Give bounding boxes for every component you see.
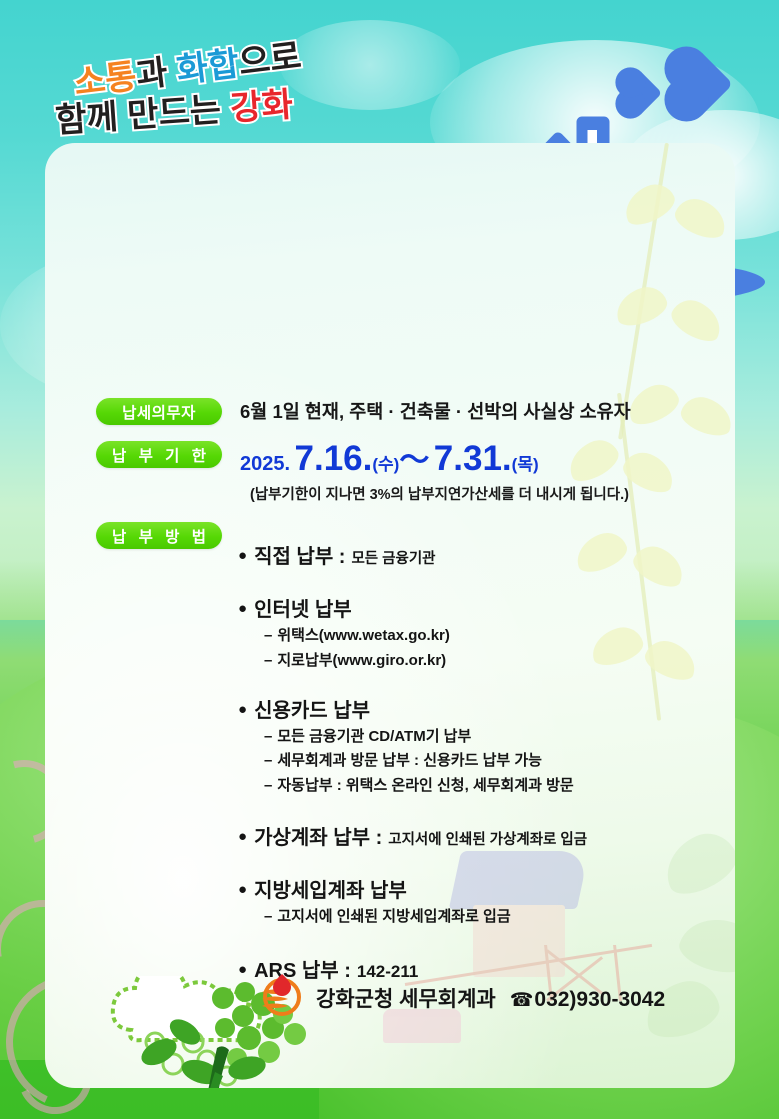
method-sub-text: 지로납부(www.giro.or.kr) [277, 652, 446, 669]
bullet-icon: ● [238, 961, 247, 978]
deadline-start-date: 7.16. [295, 439, 373, 478]
method-title-row: ●지방세입계좌 납부 [238, 874, 718, 903]
method-title: 인터넷 납부 [254, 599, 352, 621]
telephone-icon: ☎ [510, 990, 534, 1011]
taxpayer-row: 납세의무자 6월 1일 현재, 주택 · 건축물 · 선박의 사실상 소유자 [96, 398, 716, 425]
deadline-dates: 2025. 7.16.(수)〜 7.31.(목) [240, 441, 716, 476]
taxpayer-description: 6월 1일 현재, 주택 · 건축물 · 선박의 사실상 소유자 [240, 398, 716, 424]
leaf-decoration [618, 178, 679, 230]
ganghwa-emblem-icon [258, 972, 304, 1023]
method-sub-text: 모든 금융기관 CD/ATM기 납부 [277, 728, 471, 745]
method-title-row: ●가상계좌 납부 :고지서에 인쇄된 가상계좌로 입금 [238, 821, 718, 850]
leaf-decoration [611, 282, 671, 330]
bullet-icon: ● [238, 600, 247, 617]
dash-icon: – [264, 652, 272, 669]
payment-method-item: ●가상계좌 납부 :고지서에 인쇄된 가상계좌로 입금 [238, 821, 718, 850]
dash-icon: – [264, 777, 272, 794]
info-section: 납세의무자 6월 1일 현재, 주택 · 건축물 · 선박의 사실상 소유자 납… [96, 398, 716, 549]
payment-method-item: ●신용카드 납부 –모든 금융기관 CD/ATM기 납부 –세무회계과 방문 납… [238, 694, 718, 797]
footer-contact: 강화군청 세무회계과☎032)930-3042 [258, 972, 665, 1023]
deadline-year: 2025. [240, 453, 290, 475]
deadline-end-date: 7.31. [434, 439, 512, 478]
dash-icon: – [264, 627, 272, 644]
method-title: 신용카드 납부 [254, 700, 370, 722]
methods-badge: 납 부 방 법 [96, 522, 222, 549]
payment-method-item: ●지방세입계좌 납부 –고지서에 인쇄된 지방세입계좌로 입금 [238, 874, 718, 928]
bullet-icon: ● [238, 828, 247, 845]
deadline-end-day: (목) [512, 455, 539, 474]
deadline-badge: 납 부 기 한 [96, 441, 222, 468]
payment-method-item: ●직접 납부 :모든 금융기관 [238, 540, 718, 569]
logo-text-euro: 으로 [237, 37, 304, 82]
deadline-range-tilde: 〜 [399, 444, 429, 477]
method-sub-item: –자동납부 : 위택스 온라인 신청, 세무회계과 방문 [264, 775, 718, 797]
method-title-row: ●신용카드 납부 [238, 694, 718, 723]
bullet-icon: ● [238, 881, 247, 898]
footer-text-row: 강화군청 세무회계과☎032)930-3042 [316, 983, 665, 1013]
method-title-row: ●인터넷 납부 [238, 593, 718, 622]
method-sub-text: 세무회계과 방문 납부 : 신용카드 납부 가능 [277, 752, 542, 769]
method-sub-text: 자동납부 : 위택스 온라인 신청, 세무회계과 방문 [277, 777, 573, 794]
dash-icon: – [264, 908, 272, 925]
method-sub-text: 고지서에 인쇄된 지방세입계좌로 입금 [277, 908, 510, 925]
method-inline-note: 고지서에 인쇄된 가상계좌로 입금 [388, 832, 587, 848]
footer-phone: 032)930-3042 [534, 988, 665, 1011]
dash-icon: – [264, 728, 272, 745]
method-sub-item: –고지서에 인쇄된 지방세입계좌로 입금 [264, 906, 718, 928]
deadline-start-day: (수) [372, 455, 399, 474]
dash-icon: – [264, 752, 272, 769]
method-title: 지방세입계좌 납부 [254, 880, 407, 902]
payment-methods-list: ●직접 납부 :모든 금융기관 ●인터넷 납부 –위택스(www.wetax.g… [238, 540, 718, 997]
deadline-row: 납 부 기 한 2025. 7.16.(수)〜 7.31.(목) (납부기한이 … [96, 441, 716, 504]
method-sub-item: –위택스(www.wetax.go.kr) [264, 625, 718, 647]
method-sub-item: –지로납부(www.giro.or.kr) [264, 650, 718, 672]
deadline-note: (납부기한이 지나면 3%의 납부지연가산세를 더 내시게 됩니다.) [250, 483, 716, 504]
method-sub-item: –모든 금융기관 CD/ATM기 납부 [264, 726, 718, 748]
method-sub-text: 위택스(www.wetax.go.kr) [277, 627, 450, 644]
bullet-icon: ● [238, 701, 247, 718]
logo-text-ganghwa: 강화 [229, 86, 294, 128]
method-title: 가상계좌 납부 : [254, 827, 382, 849]
leaf-decoration [671, 193, 731, 243]
poster-root: 소통과 화합으로 함께 만드는 강화 [0, 0, 779, 1119]
bullet-icon: ● [238, 547, 247, 564]
method-title: 직접 납부 : [254, 546, 345, 568]
leaf-decoration [666, 293, 728, 346]
taxpayer-badge: 납세의무자 [96, 398, 222, 425]
payment-method-item: ●인터넷 납부 –위택스(www.wetax.go.kr) –지로납부(www.… [238, 593, 718, 672]
method-sub-item: –세무회계과 방문 납부 : 신용카드 납부 가능 [264, 750, 718, 772]
footer-department: 강화군청 세무회계과 [316, 988, 496, 1011]
method-inline-note: 모든 금융기관 [351, 551, 435, 567]
method-title-row: ●직접 납부 :모든 금융기관 [238, 540, 718, 569]
ganghwa-slogan-logo: 소통과 화합으로 함께 만드는 강화 [55, 42, 355, 132]
